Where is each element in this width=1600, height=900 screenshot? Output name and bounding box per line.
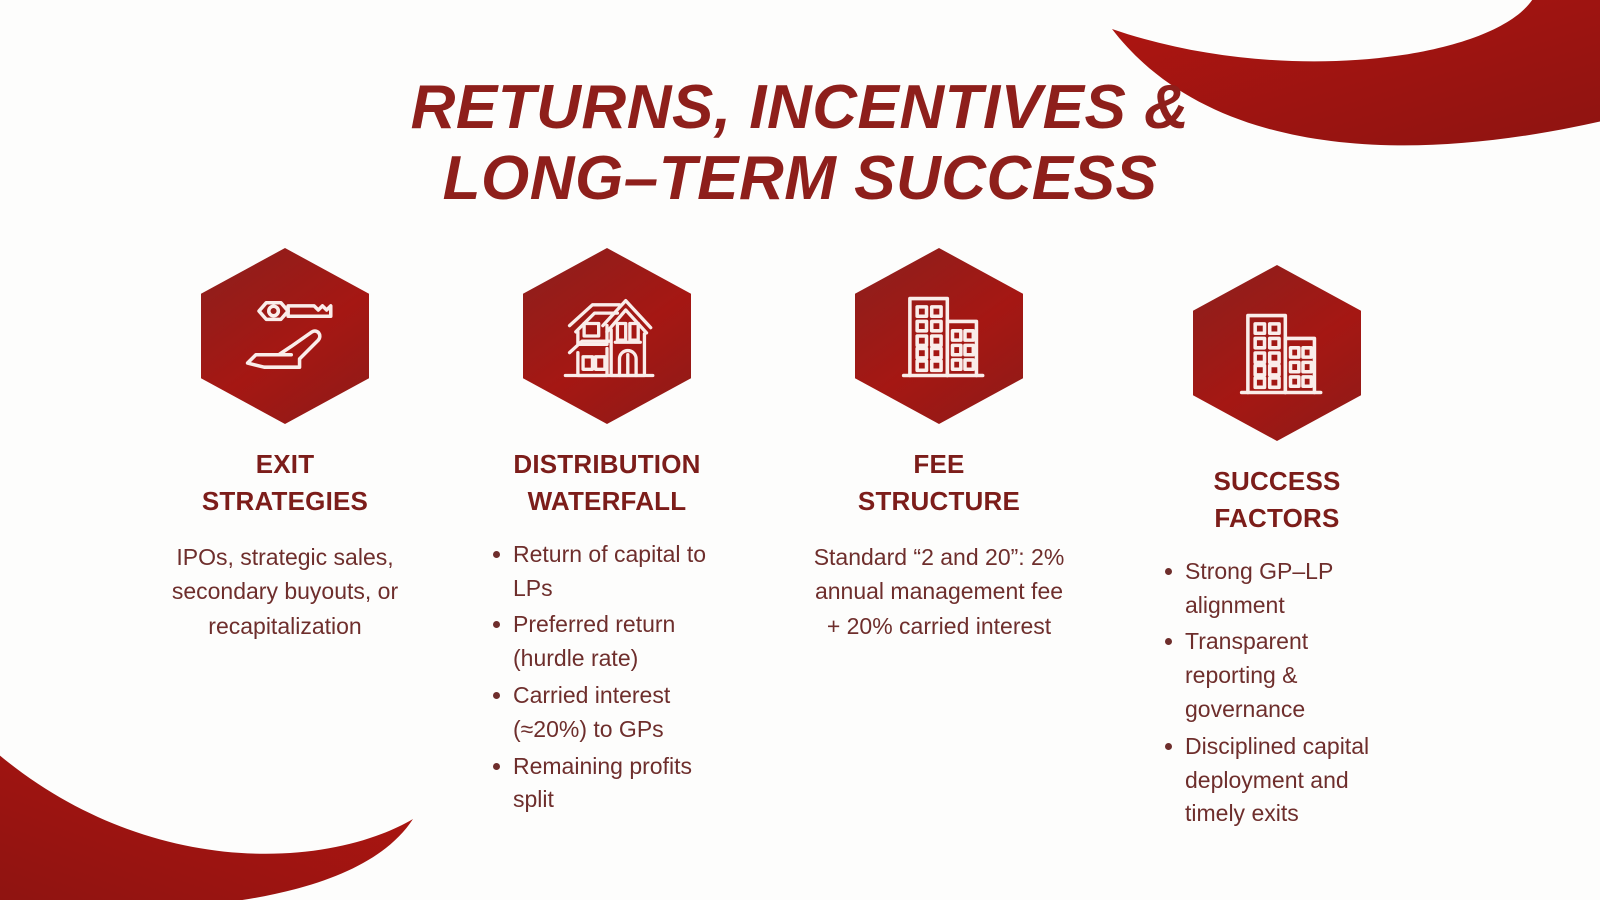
list-item: Strong GP–LP alignment — [1161, 555, 1397, 623]
feature-column-fee-structure: FEE STRUCTURE Standard “2 and 20”: 2% an… — [789, 248, 1089, 643]
list-item: Disciplined capital deployment and timel… — [1161, 730, 1397, 831]
title-line-2: LONG–TERM SUCCESS — [0, 143, 1600, 214]
column-heading: EXIT STRATEGIES — [202, 446, 368, 520]
title-line-1: RETURNS, INCENTIVES & — [0, 72, 1600, 143]
list-item: Carried interest (≈20%) to GPs — [489, 679, 729, 747]
heading-line-2: WATERFALL — [513, 483, 700, 520]
heading-line-2: FACTORS — [1213, 500, 1340, 537]
column-paragraph: Standard “2 and 20”: 2% annual managemen… — [808, 540, 1070, 644]
column-heading: DISTRIBUTION WATERFALL — [513, 446, 700, 520]
house-icon — [555, 284, 659, 388]
icon-badge-success-factors — [1193, 265, 1361, 441]
feature-columns: EXIT STRATEGIES IPOs, strategic sales, s… — [0, 248, 1600, 834]
column-bullet-list: Return of capital to LPs Preferred retur… — [485, 538, 729, 820]
slide-canvas: RETURNS, INCENTIVES & LONG–TERM SUCCESS — [0, 0, 1600, 900]
hand-holding-key-icon — [233, 284, 337, 388]
heading-line-2: STRUCTURE — [858, 483, 1020, 520]
heading-line-1: FEE — [858, 446, 1020, 483]
column-paragraph: IPOs, strategic sales, secondary buyouts… — [161, 540, 409, 644]
feature-column-exit-strategies: EXIT STRATEGIES IPOs, strategic sales, s… — [135, 248, 435, 643]
list-item: Return of capital to LPs — [489, 538, 729, 606]
list-item: Transparent reporting & governance — [1161, 625, 1397, 726]
icon-badge-fee-structure — [855, 248, 1023, 424]
icon-badge-exit-strategies — [201, 248, 369, 424]
office-buildings-icon — [887, 284, 991, 388]
feature-column-success-factors: SUCCESS FACTORS Strong GP–LP alignment T… — [1127, 248, 1427, 834]
list-item: Preferred return (hurdle rate) — [489, 608, 729, 676]
icon-badge-distribution-waterfall — [523, 248, 691, 424]
heading-line-1: EXIT — [202, 446, 368, 483]
column-heading: FEE STRUCTURE — [858, 446, 1020, 520]
heading-line-1: SUCCESS — [1213, 463, 1340, 500]
feature-column-distribution-waterfall: DISTRIBUTION WATERFALL Return of capital… — [457, 248, 757, 820]
heading-line-2: STRATEGIES — [202, 483, 368, 520]
heading-line-1: DISTRIBUTION — [513, 446, 700, 483]
column-bullet-list: Strong GP–LP alignment Transparent repor… — [1157, 555, 1397, 834]
list-item: Remaining profits split — [489, 750, 729, 818]
page-title: RETURNS, INCENTIVES & LONG–TERM SUCCESS — [0, 72, 1600, 215]
office-buildings-icon — [1225, 301, 1329, 405]
column-heading: SUCCESS FACTORS — [1213, 463, 1340, 537]
